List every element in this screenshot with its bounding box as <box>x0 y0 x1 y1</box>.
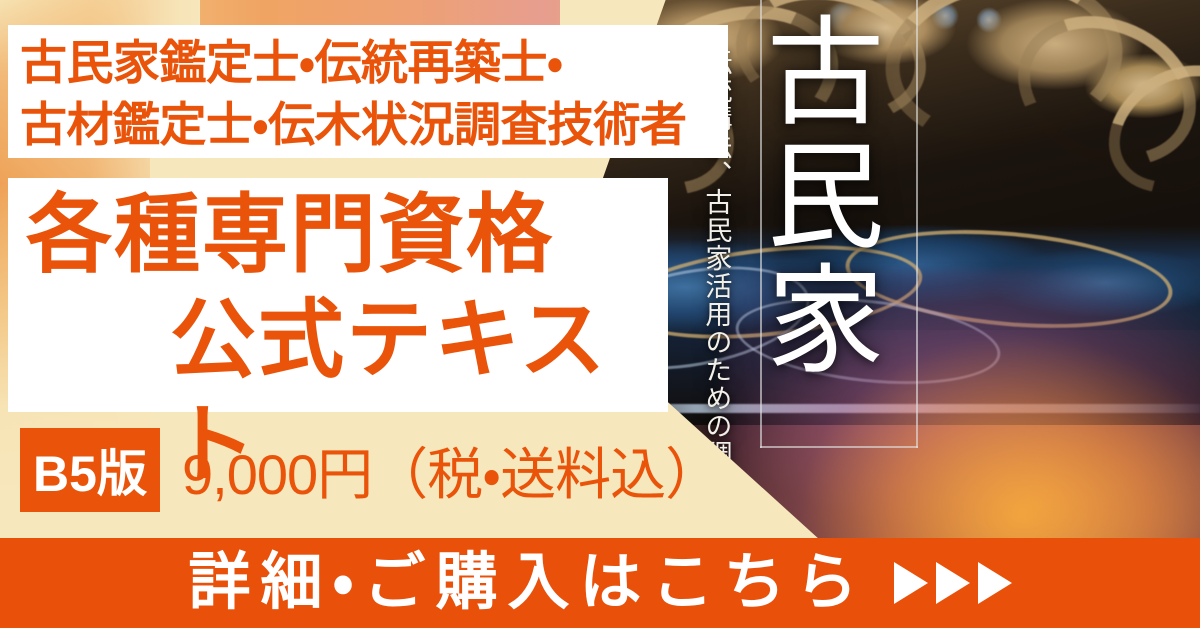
price-row: B5版 9,000円（税・送料込） <box>20 428 720 512</box>
triangle-right-icon <box>894 562 928 604</box>
cta-button[interactable]: 詳細・ご購入はこちら <box>0 538 1200 628</box>
cta-label: 詳細・ご購入はこちら <box>188 552 867 614</box>
triangle-right-icon <box>936 562 970 604</box>
triangle-right-icon <box>978 562 1012 604</box>
price-text: 9,000円（税・送料込） <box>182 430 720 511</box>
format-badge: B5版 <box>20 428 160 512</box>
credentials-text: 古民家鑑定士・伝統再築士・ 古材鑑定士・伝木状況調査技術者 <box>20 32 730 156</box>
cover-frame-rule-left <box>760 0 762 448</box>
credentials-line-1: 古民家鑑定士・伝統再築士・ <box>20 32 730 94</box>
headline-line-1: 各種専門資格 <box>8 183 668 288</box>
book-cover-title: 古民家 <box>758 10 890 382</box>
cover-frame-rule-right <box>916 0 918 448</box>
promo-banner: 古民家 伝統構法、古民家活用のための調査と再生の 古民家鑑定士・伝統再築士・ 古… <box>0 0 1200 628</box>
cta-arrows <box>894 562 1012 604</box>
credentials-line-2: 古材鑑定士・伝木状況調査技術者 <box>20 94 730 156</box>
cover-frame-rule-bottom <box>760 446 918 448</box>
